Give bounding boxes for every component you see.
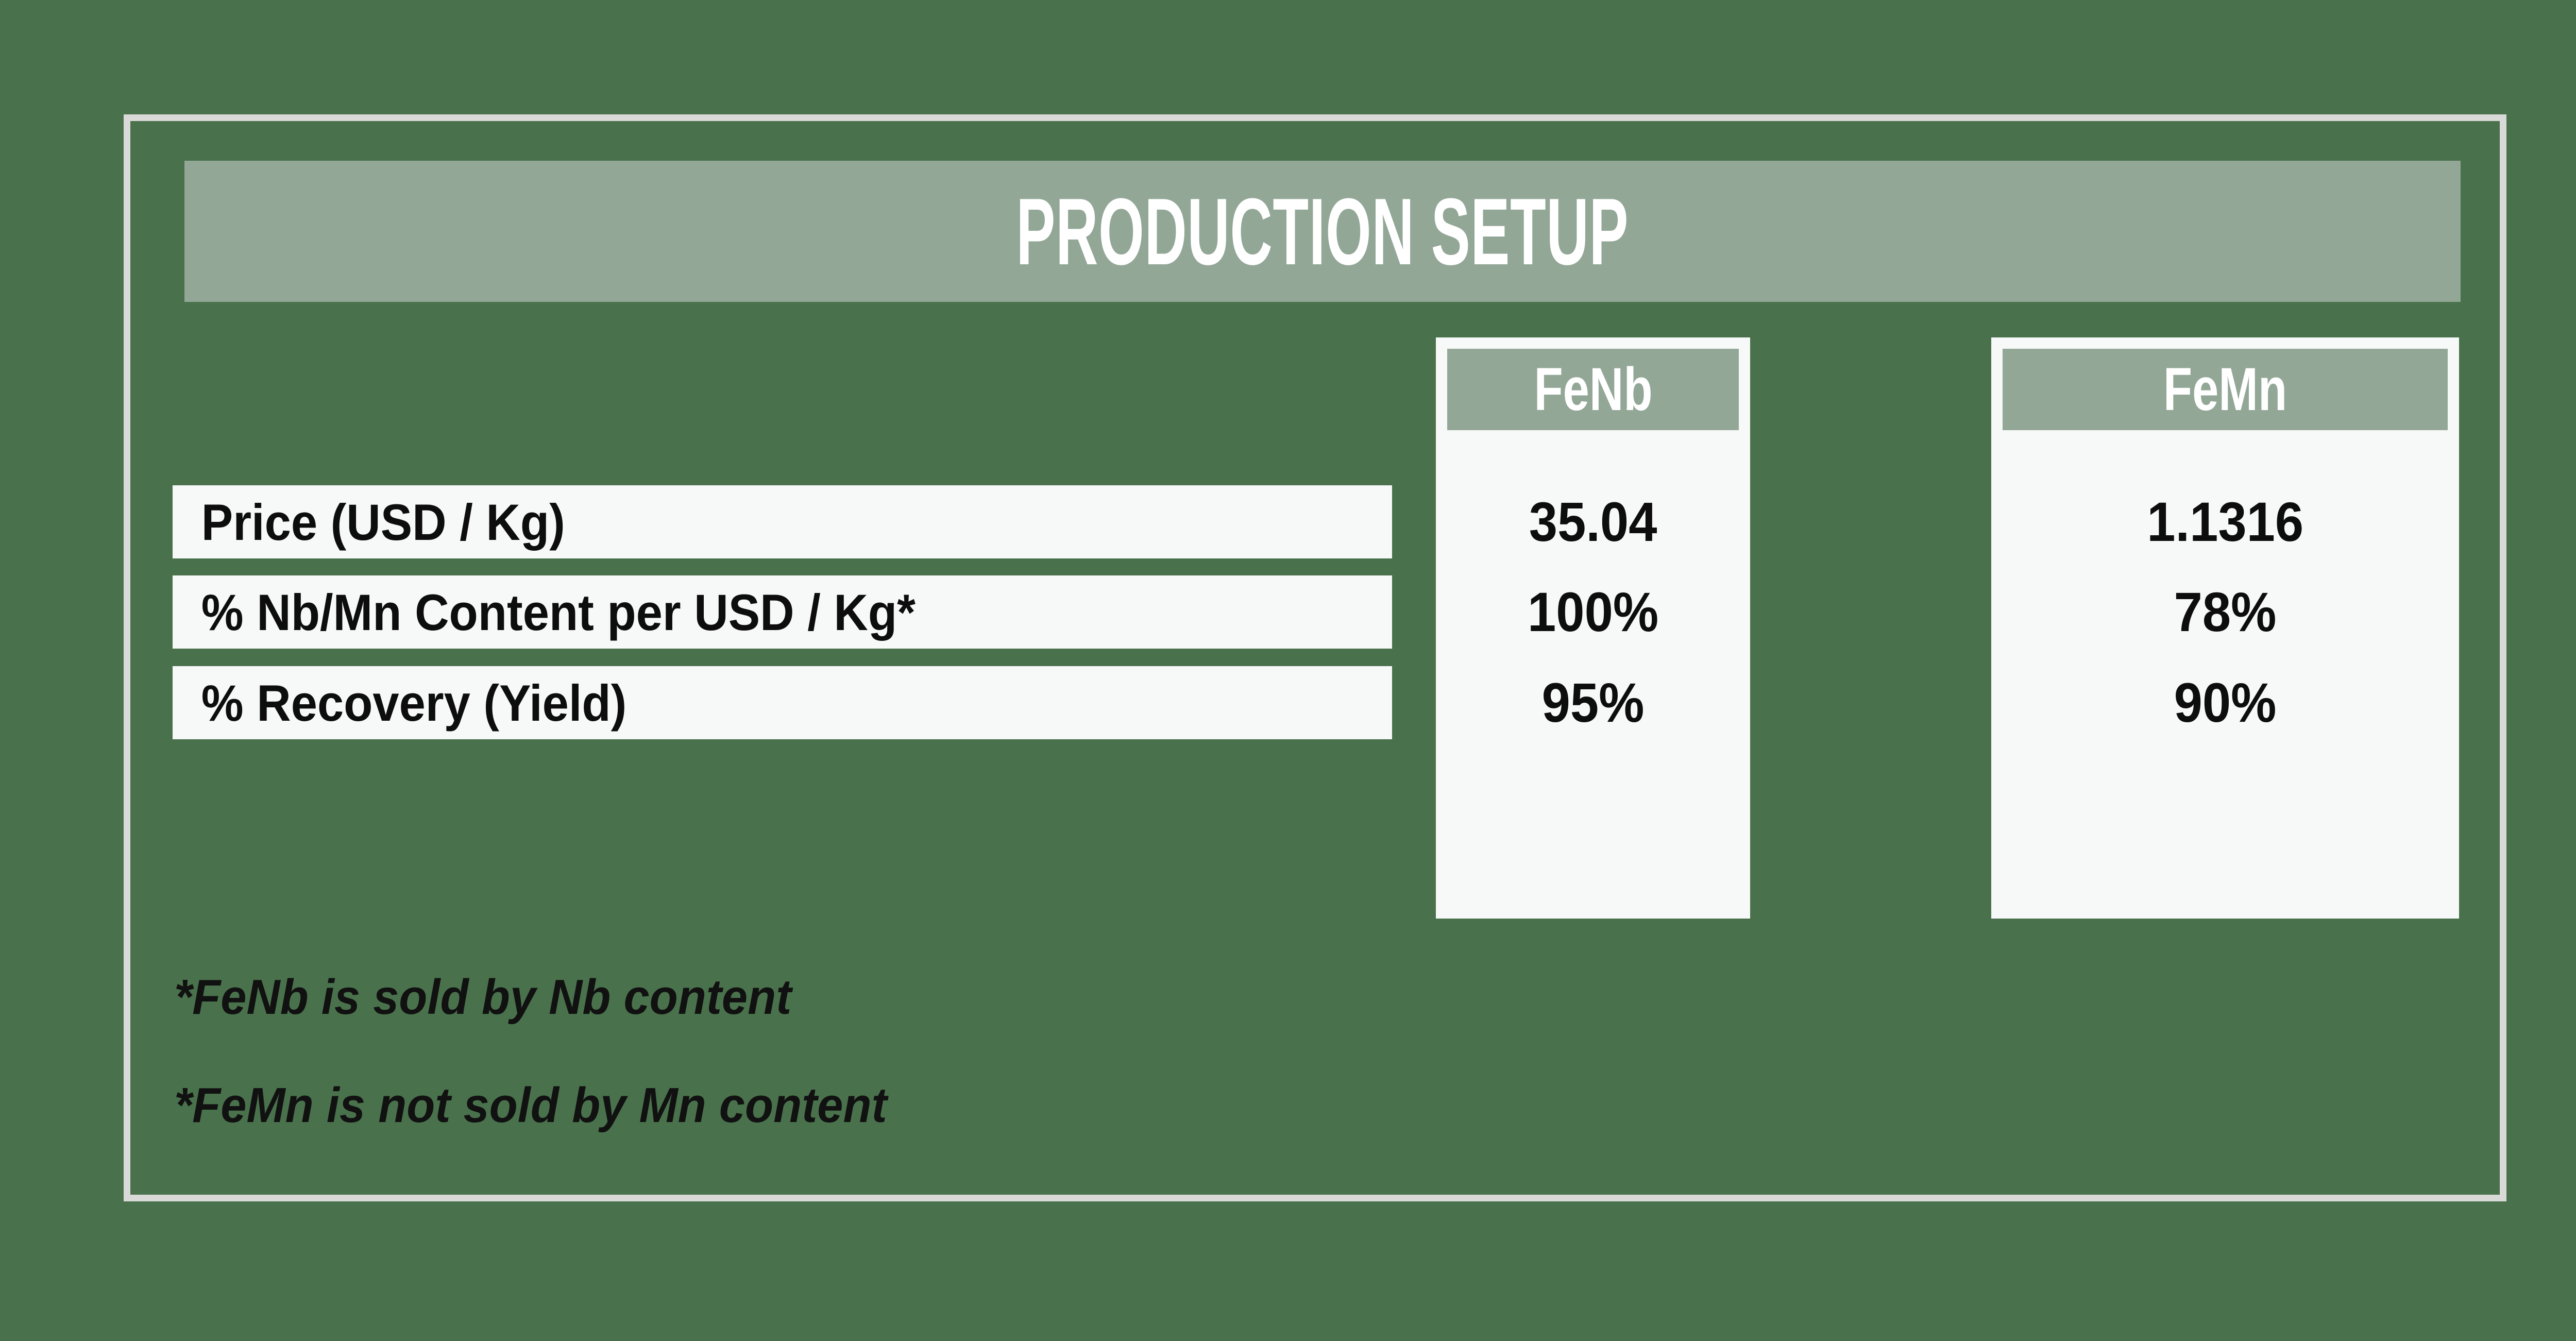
column-card-fenb: FeNb 35.04 100% 95% (1436, 337, 1750, 919)
cell-value: 95% (1542, 675, 1645, 731)
page-title: PRODUCTION SETUP (1016, 184, 1629, 279)
footnote: *FeMn is not sold by Mn content (174, 1081, 887, 1130)
column-card-femn: FeMn 1.1316 78% 90% (1991, 337, 2459, 919)
cell-value: 100% (1528, 584, 1658, 640)
slide-canvas: PRODUCTION SETUP Price (USD / Kg) % Nb/M… (0, 0, 2576, 1341)
table-cell: 100% (1436, 575, 1750, 649)
cell-value: 78% (2174, 584, 2277, 640)
cell-value: 35.04 (1529, 494, 1657, 550)
row-label: Price (USD / Kg) (173, 497, 565, 548)
column-header-label: FeMn (2163, 359, 2287, 420)
column-header-label: FeNb (1534, 359, 1652, 420)
table-row: Price (USD / Kg) (173, 485, 1392, 558)
table-cell: 78% (1991, 575, 2459, 649)
column-header-femn: FeMn (2003, 349, 2448, 430)
table-row: % Recovery (Yield) (173, 666, 1392, 739)
cell-value: 1.1316 (2147, 494, 2303, 550)
table-cell: 1.1316 (1991, 485, 2459, 558)
table-cell: 35.04 (1436, 485, 1750, 558)
column-header-fenb: FeNb (1447, 349, 1739, 430)
table-row: % Nb/Mn Content per USD / Kg* (173, 575, 1392, 649)
row-label: % Nb/Mn Content per USD / Kg* (173, 587, 916, 638)
cell-value: 90% (2174, 675, 2277, 731)
table-cell: 95% (1436, 666, 1750, 739)
footnote: *FeNb is sold by Nb content (174, 973, 791, 1022)
title-band: PRODUCTION SETUP (184, 161, 2461, 302)
row-label: % Recovery (Yield) (173, 677, 626, 728)
table-cell: 90% (1991, 666, 2459, 739)
